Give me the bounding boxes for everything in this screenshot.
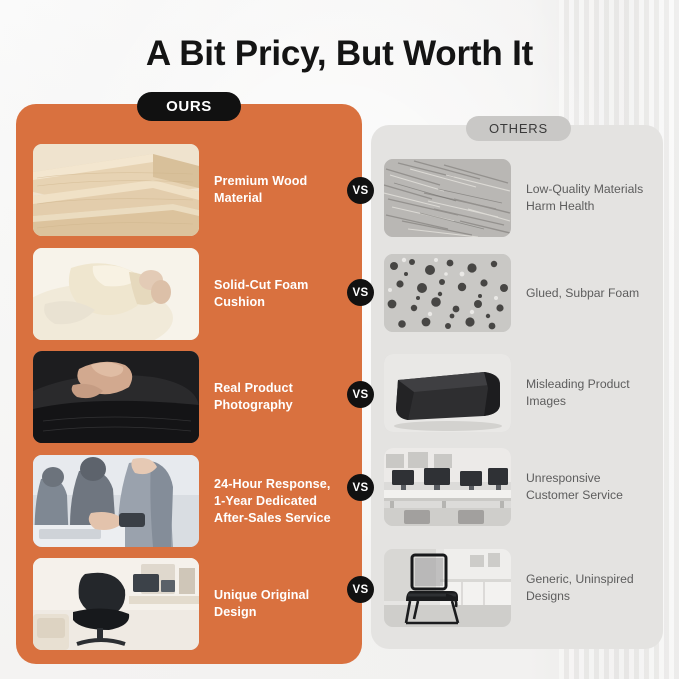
- ours-row-2-label: Solid-Cut Foam Cushion: [214, 277, 308, 311]
- vs-badge-5: VS: [347, 576, 374, 603]
- page-title: A Bit Pricy, But Worth It: [0, 34, 679, 74]
- others-row-5: Generic, Uninspired Designs: [384, 549, 659, 627]
- ours-row-5: Unique Original Design: [33, 558, 353, 650]
- executive-chair-photo: [33, 558, 199, 650]
- ours-row-2: Solid-Cut Foam Cushion: [33, 248, 353, 340]
- ours-row-1-label: Premium Wood Material: [214, 173, 307, 207]
- vs-badge-3: VS: [347, 381, 374, 408]
- vs-badge-4: VS: [347, 474, 374, 501]
- others-row-3: Misleading Product Images: [384, 354, 659, 432]
- others-row-4: Unresponsive Customer Service: [384, 448, 659, 526]
- others-row-2-label: Glued, Subpar Foam: [526, 285, 639, 302]
- generic-mesh-chair-photo: [384, 549, 511, 627]
- others-row-1: Low-Quality Materials Harm Health: [384, 159, 659, 237]
- others-row-2: Glued, Subpar Foam: [384, 254, 659, 332]
- ours-badge: OURS: [137, 92, 241, 121]
- office-staff-photo: [33, 455, 199, 547]
- ours-row-4-label: 24-Hour Response, 1-Year Dedicated After…: [214, 476, 331, 527]
- plain-black-cushion-photo: [384, 354, 511, 432]
- others-badge: OTHERS: [466, 116, 571, 141]
- ours-row-5-label: Unique Original Design: [214, 587, 309, 621]
- empty-office-desks-photo: [384, 448, 511, 526]
- glued-foam-photo: [384, 254, 511, 332]
- others-row-3-label: Misleading Product Images: [526, 376, 630, 410]
- others-row-1-label: Low-Quality Materials Harm Health: [526, 181, 643, 215]
- ours-row-3: Real Product Photography: [33, 351, 353, 443]
- comparison-infographic: A Bit Pricy, But Worth It OURS OTHERS: [0, 0, 679, 679]
- wood-planks-photo: [33, 144, 199, 236]
- others-row-4-label: Unresponsive Customer Service: [526, 470, 623, 504]
- black-cushion-hand-photo: [33, 351, 199, 443]
- vs-badge-1: VS: [347, 177, 374, 204]
- ours-row-4: 24-Hour Response, 1-Year Dedicated After…: [33, 455, 353, 547]
- ours-row-1: Premium Wood Material: [33, 144, 353, 236]
- foam-cushion-photo: [33, 248, 199, 340]
- wood-scraps-photo: [384, 159, 511, 237]
- vs-badge-2: VS: [347, 279, 374, 306]
- ours-row-3-label: Real Product Photography: [214, 380, 293, 414]
- others-row-5-label: Generic, Uninspired Designs: [526, 571, 634, 605]
